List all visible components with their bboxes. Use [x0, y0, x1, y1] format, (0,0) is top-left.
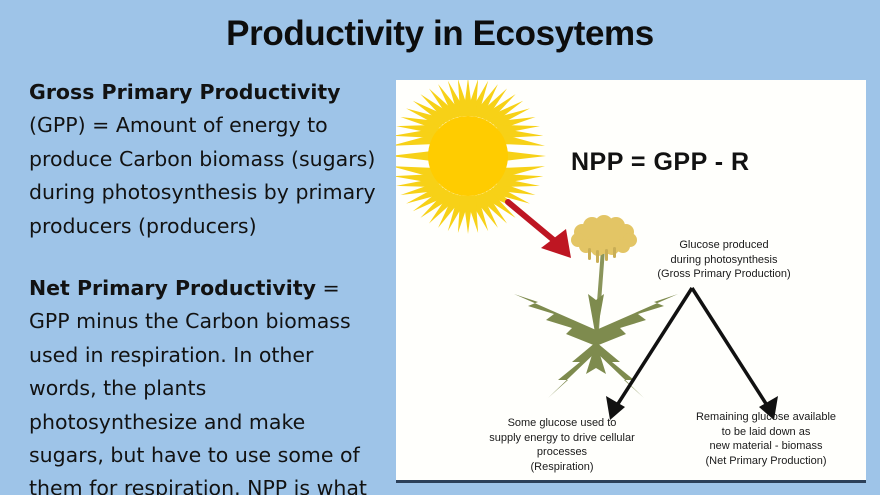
label-respiration: Some glucose used to supply energy to dr…: [458, 416, 666, 474]
page-title: Productivity in Ecosytems: [0, 14, 880, 54]
label-net-primary-production: Remaining glucose available to be laid d…: [666, 410, 866, 468]
npp-equation: NPP = GPP - R: [571, 148, 750, 177]
npp-heading: Net Primary Productivity: [29, 276, 316, 300]
gpp-body: (GPP) = Amount of energy to produce Carb…: [29, 113, 376, 237]
gpp-heading: Gross Primary Productivity: [29, 80, 341, 104]
label-gross-primary-production: Glucose produced during photosynthesis (…: [624, 238, 824, 282]
slide-canvas: Productivity in Ecosytems Gross Primary …: [0, 0, 880, 495]
npp-diagram-figure: NPP = GPP - R Glucose produced during ph…: [396, 80, 866, 483]
npp-text-block: Net Primary Productivity = GPP minus the…: [29, 272, 381, 495]
npp-body: = GPP minus the Carbon biomass used in r…: [29, 276, 367, 495]
sun-disc-icon: [428, 116, 508, 196]
red-arrow-icon: [508, 202, 571, 258]
gpp-text-block: Gross Primary Productivity (GPP) = Amoun…: [29, 76, 381, 243]
